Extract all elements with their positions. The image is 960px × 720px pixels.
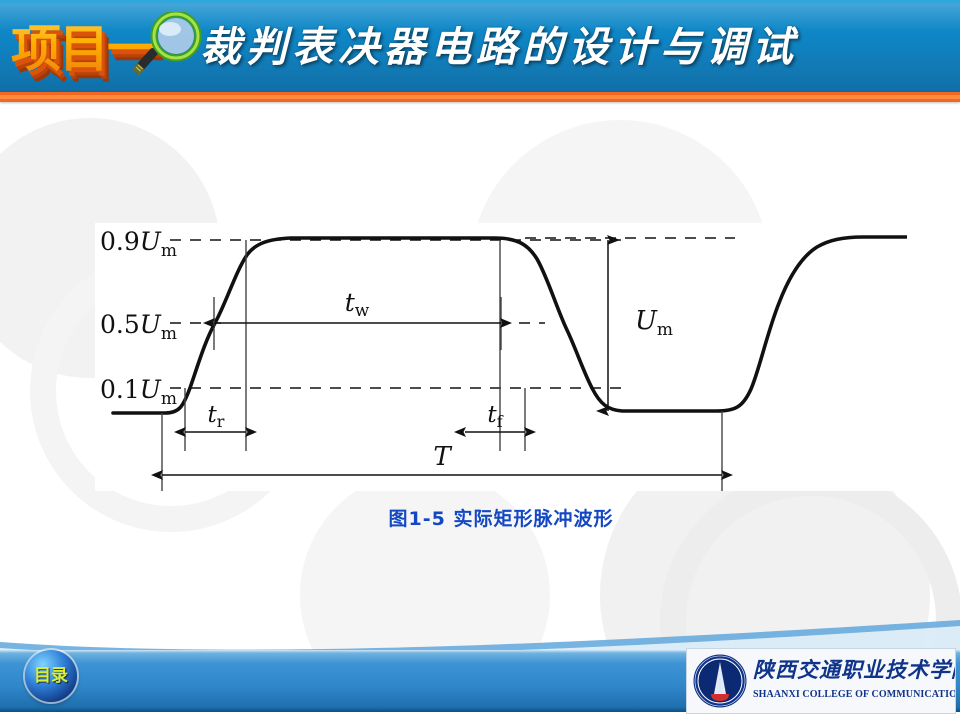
axis-label-0-5um: 0.5Um bbox=[100, 310, 177, 344]
magnifier-icon bbox=[132, 12, 208, 84]
school-name-cn: 陕西交通职业技术学院 bbox=[753, 654, 956, 684]
waveform-chart: tw tr tf T Um 0.9Um 0.5Um 0.1Um bbox=[95, 223, 907, 491]
header-divider-inner bbox=[0, 95, 960, 99]
pulse-waveform-trace bbox=[113, 237, 907, 413]
school-logo: 陕西交通职业技术学院 SHAANXI COLLEGE OF COMMUNICAT… bbox=[686, 648, 956, 714]
page-title: 裁判表决器电路的设计与调试 bbox=[200, 16, 952, 80]
presentation-slide: 项目一 项目一 裁判表决器电路的设计与调试 bbox=[0, 0, 960, 720]
school-name-en: SHAANXI COLLEGE OF COMMUNICATION TECHNOL… bbox=[753, 689, 956, 700]
axis-label-0-9um: 0.9Um bbox=[100, 227, 177, 261]
header-top-line bbox=[0, 0, 960, 3]
dimension-label-tw: tw bbox=[345, 288, 370, 321]
dimension-label-period: T bbox=[433, 442, 452, 472]
school-seal-icon bbox=[693, 654, 747, 708]
slide-header: 项目一 项目一 裁判表决器电路的设计与调试 bbox=[0, 0, 960, 92]
axis-label-0-1um: 0.1Um bbox=[100, 375, 177, 409]
dimension-label-um: Um bbox=[635, 306, 673, 340]
table-of-contents-button[interactable]: 目录 bbox=[25, 650, 77, 702]
dimension-label-tr: tr bbox=[208, 402, 225, 431]
figure-caption: 图1-5 实际矩形脉冲波形 bbox=[95, 504, 907, 531]
waveform-figure: tw tr tf T Um 0.9Um 0.5Um 0.1Um bbox=[95, 223, 907, 491]
toc-button-label: 目录 bbox=[25, 650, 77, 702]
dimension-label-tf: tf bbox=[487, 402, 503, 431]
